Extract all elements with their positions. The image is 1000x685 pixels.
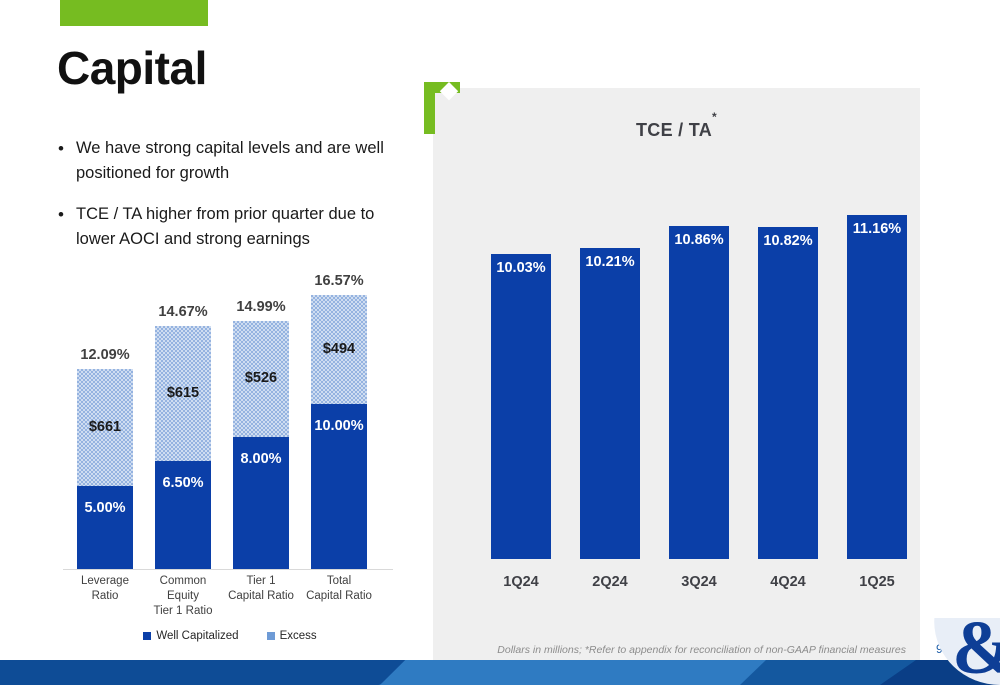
list-item: • TCE / TA higher from prior quarter due…	[58, 202, 398, 252]
x-tick-line: Tier 1	[221, 574, 301, 589]
chart-title-asterisk: *	[712, 110, 717, 124]
x-tick-line: Tier 1 Ratio	[143, 604, 223, 619]
bar-segment-well-capitalized: 6.50%	[155, 461, 211, 569]
x-tick-line: Leverage	[65, 574, 145, 589]
band-segment	[380, 660, 800, 685]
bullet-text: We have strong capital levels and are we…	[76, 136, 398, 186]
capital-ratios-plot-area: 12.09% $661 5.00% 14.67% $615 6.50%	[55, 258, 405, 570]
bar-1q24: 10.03%	[491, 254, 551, 559]
bar-value-label: 10.03%	[491, 260, 551, 276]
x-tick-label: Leverage Ratio	[65, 574, 145, 604]
segment-label: $615	[155, 385, 211, 401]
bar-value-label: 10.86%	[669, 232, 729, 248]
bullet-marker-icon: •	[58, 202, 76, 227]
x-tick-line: Common Equity	[143, 574, 223, 604]
segment-label: 8.00%	[233, 451, 289, 467]
tce-ta-chart-title: TCE / TA*	[433, 118, 920, 141]
bar-segment-well-capitalized: 10.00%	[311, 404, 367, 569]
bar-segment-well-capitalized: 8.00%	[233, 437, 289, 569]
x-tick-label-1q24: 1Q24	[481, 574, 561, 590]
bullet-text: TCE / TA higher from prior quarter due t…	[76, 202, 398, 252]
segment-label: $526	[233, 370, 289, 386]
x-tick-label-2q24: 2Q24	[570, 574, 650, 590]
bar-segment-excess: $615	[155, 326, 211, 461]
bar-value-label: 10.82%	[758, 233, 818, 249]
bar-total-label: 16.57%	[305, 273, 373, 289]
legend-swatch-icon	[143, 632, 151, 640]
bar-1q25: 11.16%	[847, 215, 907, 559]
bar-total-label: 12.09%	[71, 347, 139, 363]
segment-label: 10.00%	[311, 418, 367, 434]
segment-label: 5.00%	[77, 500, 133, 516]
x-tick-label: Total Capital Ratio	[299, 574, 379, 604]
stacked-bar-leverage-ratio: 12.09% $661 5.00%	[77, 369, 133, 569]
x-tick-label: Tier 1 Capital Ratio	[221, 574, 301, 604]
bar-3q24: 10.86%	[669, 226, 729, 559]
bar-value-label: 10.21%	[580, 254, 640, 270]
segment-label: 6.50%	[155, 475, 211, 491]
legend-label: Well Capitalized	[156, 630, 238, 642]
x-tick-label-1q25: 1Q25	[837, 574, 917, 590]
bar-segment-excess: $526	[233, 321, 289, 437]
band-segment	[0, 660, 430, 685]
green-accent-bar	[60, 0, 208, 26]
stacked-bar-cet1-ratio: 14.67% $615 6.50%	[155, 326, 211, 569]
bar-segment-excess: $661	[77, 369, 133, 486]
x-tick-line: Ratio	[65, 589, 145, 604]
bullet-marker-icon: •	[58, 136, 76, 161]
x-tick-line: Capital Ratio	[221, 589, 301, 604]
footnote: Dollars in millions; *Refer to appendix …	[433, 644, 906, 656]
stacked-bar-total-capital-ratio: 16.57% $494 10.00%	[311, 295, 367, 569]
bar-segment-excess: $494	[311, 295, 367, 404]
bar-total-label: 14.99%	[227, 299, 295, 315]
stacked-bar-tier1-capital-ratio: 14.99% $526 8.00%	[233, 321, 289, 569]
segment-label: $661	[77, 419, 133, 435]
x-axis-line	[63, 569, 393, 570]
x-tick-label-4q24: 4Q24	[748, 574, 828, 590]
legend-item-excess[interactable]: Excess	[267, 630, 317, 642]
green-corner-bracket-icon	[424, 82, 460, 134]
legend-item-well-capitalized[interactable]: Well Capitalized	[143, 630, 238, 642]
legend-swatch-icon	[267, 632, 275, 640]
chart-title-text: TCE / TA	[636, 120, 712, 140]
segment-label: $494	[311, 341, 367, 357]
legend-label: Excess	[280, 630, 317, 642]
slide-capital: Capital • We have strong capital levels …	[0, 0, 1000, 685]
x-tick-label-3q24: 3Q24	[659, 574, 739, 590]
footer-band	[0, 660, 1000, 685]
ampersand-logo-icon: &	[952, 612, 1000, 685]
x-tick-label: Common Equity Tier 1 Ratio	[143, 574, 223, 619]
chart-legend: Well Capitalized Excess	[55, 630, 405, 642]
bar-segment-well-capitalized: 5.00%	[77, 486, 133, 569]
bullet-list: • We have strong capital levels and are …	[58, 136, 398, 268]
bar-4q24: 10.82%	[758, 227, 818, 559]
tce-ta-panel: TCE / TA* 10.03% 10.21% 10.86% 10.82% 11…	[433, 88, 920, 660]
bar-total-label: 14.67%	[149, 304, 217, 320]
x-tick-line: Total	[299, 574, 379, 589]
capital-ratios-chart: 12.09% $661 5.00% 14.67% $615 6.50%	[55, 258, 405, 643]
bar-2q24: 10.21%	[580, 248, 640, 559]
bar-value-label: 11.16%	[847, 221, 907, 237]
ampersand-glyph: &	[952, 612, 1000, 685]
list-item: • We have strong capital levels and are …	[58, 136, 398, 186]
x-tick-line: Capital Ratio	[299, 589, 379, 604]
tce-ta-plot-area: 10.03% 10.21% 10.86% 10.82% 11.16% 1Q24 …	[473, 188, 893, 648]
page-title: Capital	[57, 45, 207, 91]
